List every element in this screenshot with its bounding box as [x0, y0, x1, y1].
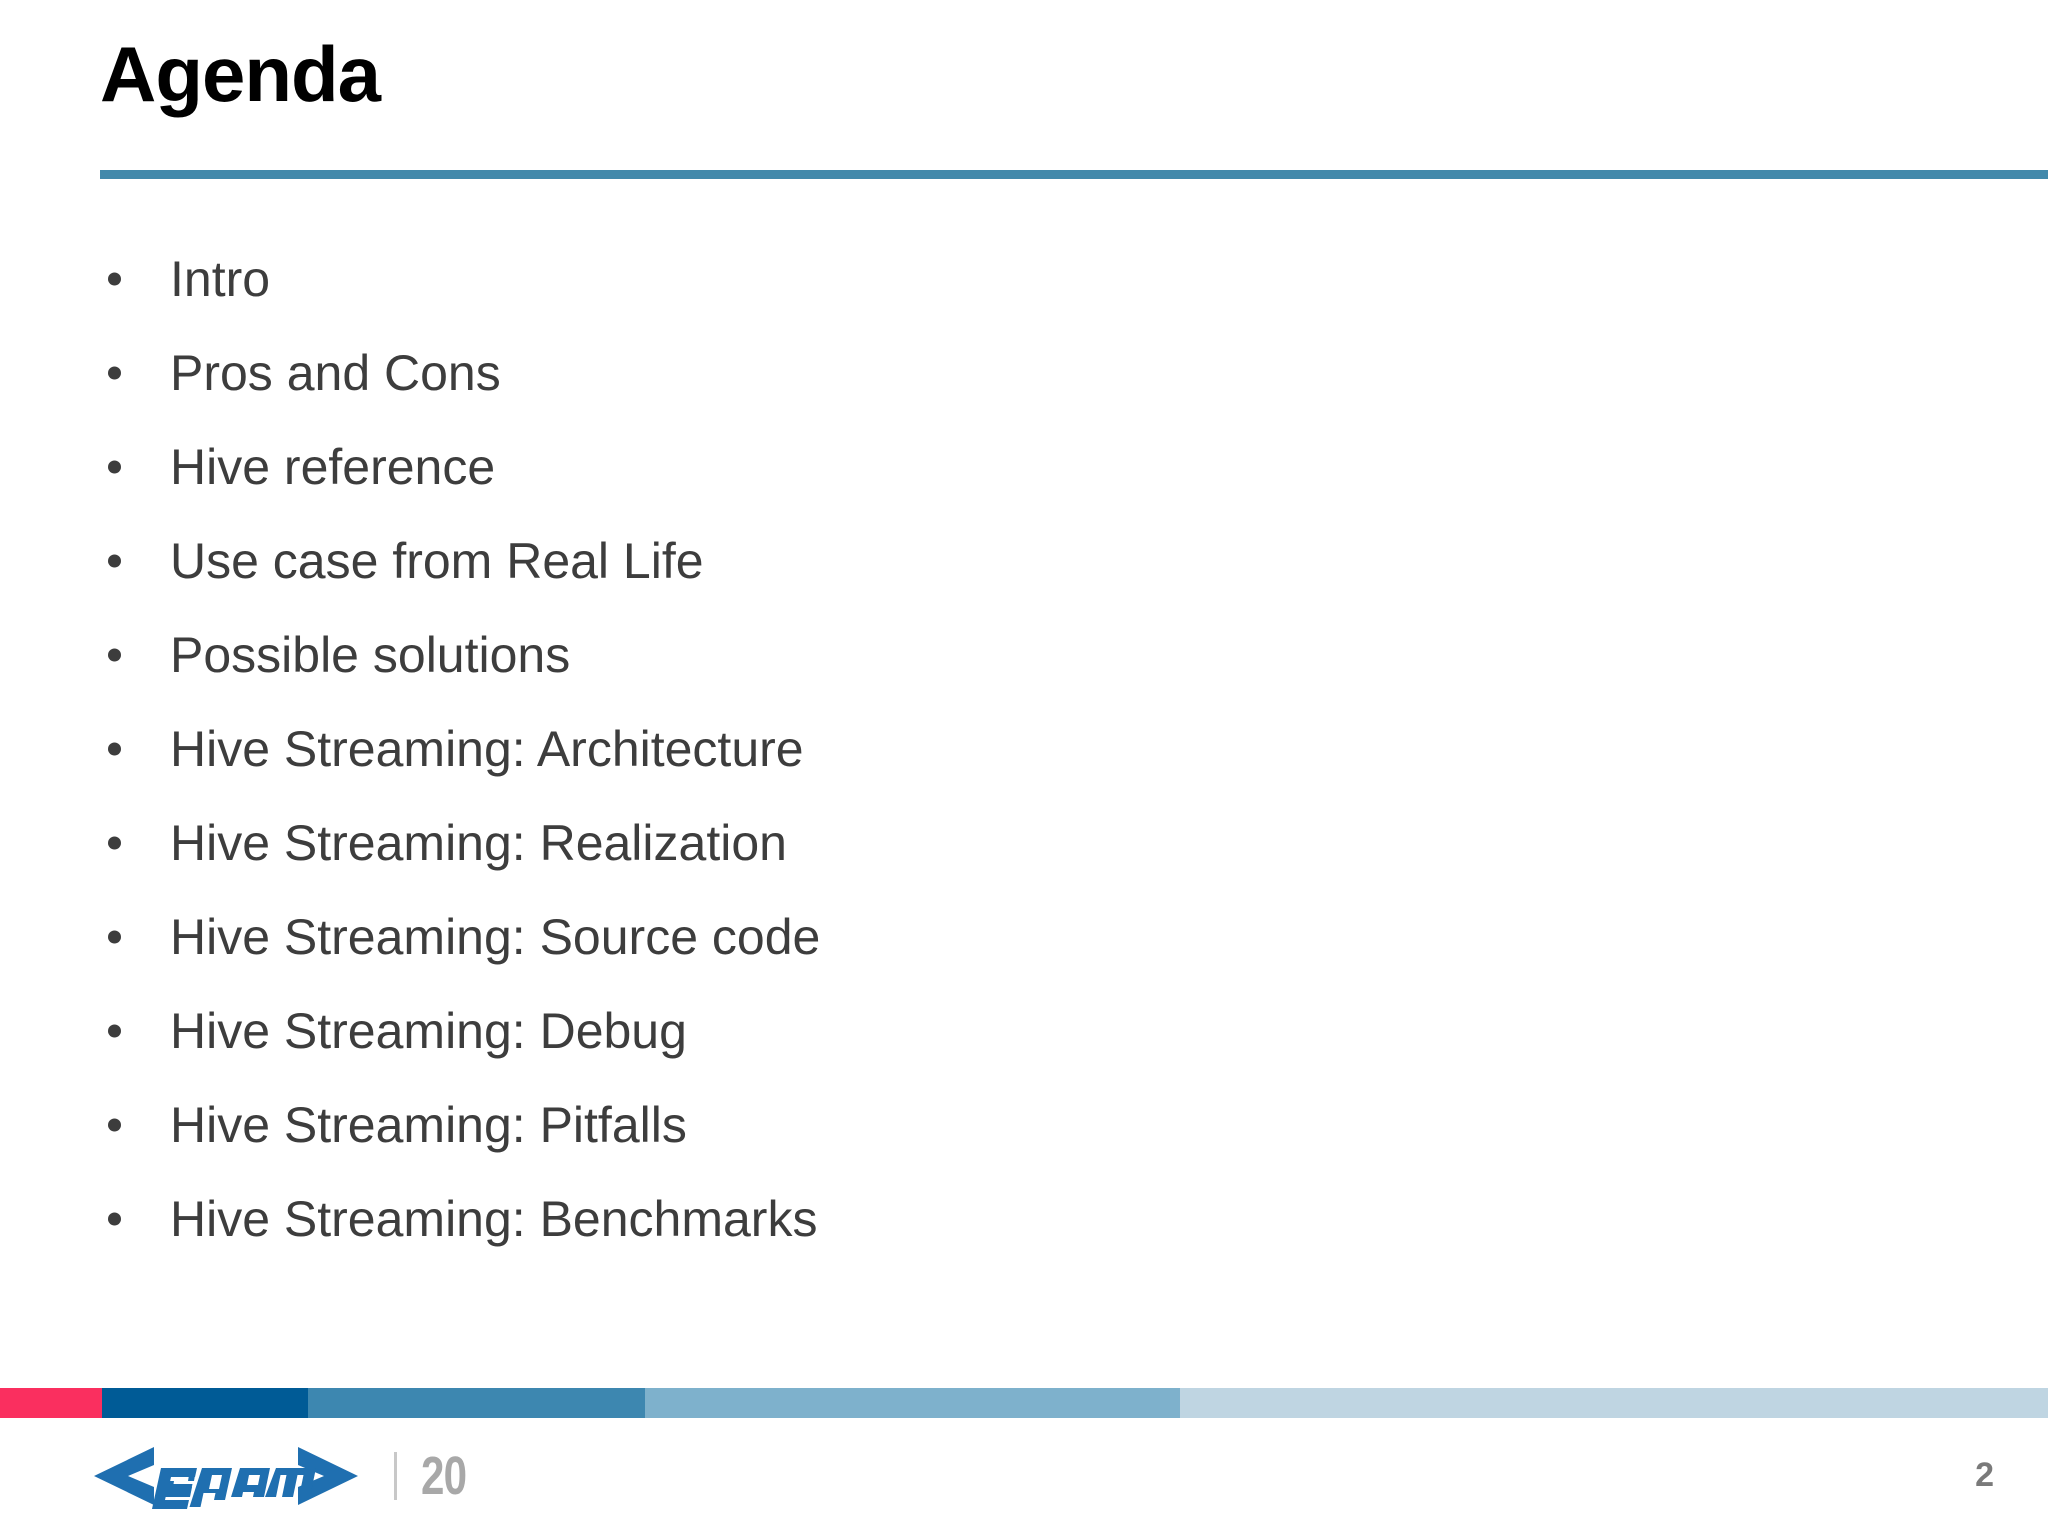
agenda-item-label: Hive reference: [170, 439, 495, 495]
bullet-icon: [108, 1025, 121, 1038]
slide-footer: 20 2: [0, 1418, 2048, 1536]
agenda-list-item: Intro: [100, 232, 1900, 326]
color-bar-segment-pale-blue: [1180, 1388, 2048, 1418]
bullet-icon: [108, 273, 121, 286]
agenda-list-item: Hive Streaming: Benchmarks: [100, 1172, 1900, 1266]
agenda-list: IntroPros and ConsHive referenceUse case…: [100, 232, 1900, 1266]
agenda-list-item: Hive Streaming: Debug: [100, 984, 1900, 1078]
agenda-list-item: Hive Streaming: Source code: [100, 890, 1900, 984]
agenda-item-label: Intro: [170, 251, 270, 307]
agenda-list-item: Possible solutions: [100, 608, 1900, 702]
agenda-item-label: Hive Streaming: Realization: [170, 815, 787, 871]
logo-divider: [394, 1452, 397, 1500]
bullet-icon: [108, 555, 121, 568]
agenda-item-label: Possible solutions: [170, 627, 570, 683]
agenda-item-label: Hive Streaming: Architecture: [170, 721, 804, 777]
agenda-list-item: Hive Streaming: Realization: [100, 796, 1900, 890]
brand-lockup: 20: [92, 1444, 479, 1508]
agenda-item-label: Hive Streaming: Debug: [170, 1003, 687, 1059]
agenda-item-label: Hive Streaming: Benchmarks: [170, 1191, 817, 1247]
agenda-list-item: Use case from Real Life: [100, 514, 1900, 608]
agenda-list-item: Hive Streaming: Pitfalls: [100, 1078, 1900, 1172]
agenda-item-label: Hive Streaming: Pitfalls: [170, 1097, 687, 1153]
bullet-icon: [108, 367, 121, 380]
bullet-icon: [108, 837, 121, 850]
footer-color-bar: [0, 1388, 2048, 1418]
agenda-list-item: Hive reference: [100, 420, 1900, 514]
slide: Agenda IntroPros and ConsHive referenceU…: [0, 0, 2048, 1536]
color-bar-segment-light-blue: [645, 1388, 1180, 1418]
color-bar-segment-dark-blue: [102, 1388, 308, 1418]
bullet-icon: [108, 1213, 121, 1226]
agenda-item-label: Pros and Cons: [170, 345, 501, 401]
color-bar-segment-pink: [0, 1388, 102, 1418]
agenda-list-item: Hive Streaming: Architecture: [100, 702, 1900, 796]
bullet-icon: [108, 461, 121, 474]
page-number: 2: [1975, 1456, 1994, 1495]
agenda-list-item: Pros and Cons: [100, 326, 1900, 420]
agenda-item-label: Use case from Real Life: [170, 533, 704, 589]
anniversary-badge: 20: [421, 1449, 466, 1503]
bullet-icon: [108, 649, 121, 662]
agenda-item-label: Hive Streaming: Source code: [170, 909, 820, 965]
title-underline-rule: [100, 170, 2048, 179]
bullet-icon: [108, 1119, 121, 1132]
page-title: Agenda: [100, 32, 380, 118]
color-bar-segment-medium-blue: [308, 1388, 645, 1418]
epam-logo-icon: [92, 1439, 360, 1513]
bullet-icon: [108, 743, 121, 756]
bullet-icon: [108, 931, 121, 944]
